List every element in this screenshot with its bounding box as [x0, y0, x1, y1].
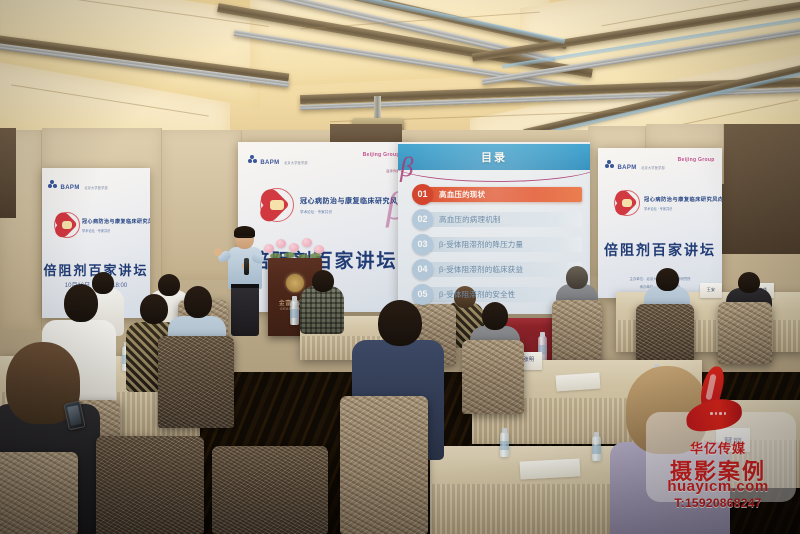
agenda-item-number: 03: [412, 234, 433, 255]
bapm-logo-icon: [48, 180, 57, 189]
agenda-item-number: 02: [412, 209, 433, 230]
banner-center-event-sub: 学术论坛 · 专家共识: [300, 210, 332, 215]
banner-left-org-mark: BAPM: [60, 185, 79, 191]
agenda-item-label: β-受体阻滞剂的降压力量: [439, 239, 523, 250]
hotel-emblem-icon: [286, 274, 304, 292]
slide-curve-decoration: [398, 164, 590, 182]
banner-center-org-sub: 北京大学医学部: [284, 161, 308, 165]
banner-right-main-title: 倍阻剂百家讲坛: [598, 240, 722, 260]
water-bottle: [500, 432, 509, 457]
banquet-chair: [718, 302, 772, 364]
speaker-left-hand: [214, 248, 222, 256]
agenda-item-number: 04: [412, 259, 433, 280]
banner-right-sponsor: Beijing Group: [678, 157, 715, 163]
agenda-item: 03 β-受体阻滞剂的降压力量: [412, 234, 582, 254]
speaker-trousers: [231, 286, 259, 336]
water-bottle: [290, 300, 299, 325]
agenda-item-label: β-受体阻滞剂的临床获益: [439, 264, 523, 275]
agenda-item-number: 01: [412, 184, 433, 205]
agenda-item: 01 高血压的现状: [412, 184, 582, 204]
banquet-chair: [552, 300, 602, 366]
banner-left-event-title: 冠心病防治与康复临床研究风向标: [82, 218, 150, 225]
bapm-logo-icon: [248, 155, 257, 164]
agenda-item-label: β-受体阻滞剂的安全性: [439, 289, 516, 300]
banquet-chair: [462, 340, 524, 414]
banner-left-org-sub: 北京大学医学部: [84, 186, 108, 190]
agenda-item-label: 高血压的病理机制: [439, 214, 501, 225]
banner-center-org-mark: BAPM: [260, 160, 279, 166]
watermark-overlay: 华亿传媒 摄影案例 huayicm.com T:15920868247: [636, 366, 800, 502]
banner-right-event-title: 冠心病防治与康复临床研究风向标: [644, 196, 722, 203]
heart-logo-icon: [260, 188, 294, 222]
banner-right-org-mark: BAPM: [617, 165, 636, 171]
banquet-chair: [340, 396, 428, 534]
banquet-chair-foreground: [0, 452, 78, 534]
banquet-chair-foreground: [212, 446, 328, 534]
banquet-chair: [158, 336, 234, 428]
agenda-item-label: 高血压的现状: [439, 189, 485, 200]
banner-left-event-sub: 学术论坛 · 专家共识: [82, 228, 110, 233]
watermark-telephone: T:15920868247: [636, 496, 800, 510]
presenter-speaker: [222, 228, 270, 336]
agenda-item-number: 05: [412, 284, 433, 305]
banner-left-org-logo: BAPM 北京大学医学部: [48, 176, 107, 194]
banner-right-org-logo: BAPM 北京大学医学部: [605, 156, 664, 174]
heart-logo-icon: [614, 190, 640, 216]
agenda-item: 02 高血压的病理机制: [412, 209, 582, 229]
document-papers: [555, 372, 600, 391]
banner-right-event-sub: 学术论坛 · 专家共识: [644, 206, 672, 211]
beta-glyph-icon: β: [400, 154, 413, 181]
banner-right-org-sub: 北京大学医学部: [641, 166, 665, 170]
banner-center-sponsor: Beijing Group: [363, 152, 400, 158]
conference-photo: BAPM 北京大学医学部 冠心病防治与康复临床研究风向标 学术论坛 · 专家共识…: [0, 0, 800, 534]
speaker-belt: [231, 284, 259, 288]
ceiling: [0, 0, 800, 142]
bapm-logo-icon: [605, 160, 614, 169]
table-name-card: 王安: [700, 283, 722, 298]
slide-agenda-list: 01 高血压的现状 02 高血压的病理机制 03 β-受体阻滞剂的降压力量 04…: [412, 184, 582, 309]
agenda-item: 04 β-受体阻滞剂的临床获益: [412, 259, 582, 279]
handheld-microphone-icon: [244, 258, 249, 275]
document-papers: [520, 458, 581, 479]
water-bottle: [592, 436, 601, 461]
speaker-glasses-icon: [237, 236, 252, 240]
banner-center-org-logo: BAPM 北京大学医学部: [248, 151, 307, 169]
banquet-chair-foreground: [96, 436, 204, 534]
huayi-logo-icon: [680, 366, 750, 444]
watermark-website[interactable]: huayicm.com: [636, 478, 800, 495]
slide-title: 目录: [398, 149, 590, 165]
heart-logo-icon: [54, 212, 80, 238]
